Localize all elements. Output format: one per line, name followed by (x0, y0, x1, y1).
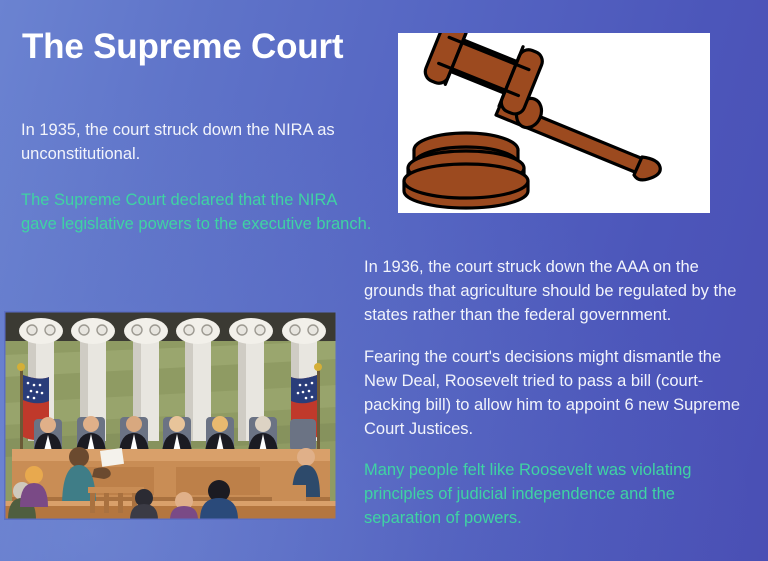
slide-canvas: The Supreme Court In 1935, the court str… (0, 0, 768, 561)
paragraph-court-packing-bill: Fearing the court's decisions might dism… (364, 345, 756, 441)
paragraph-nira-struck-down: In 1935, the court struck down the NIRA … (21, 118, 371, 166)
page-title: The Supreme Court (22, 26, 343, 68)
supreme-court-chamber-icon (4, 311, 337, 520)
paragraph-nira-legislative-powers: The Supreme Court declared that the NIRA… (21, 188, 373, 236)
courtroom-illustration (4, 311, 337, 520)
gavel-icon (398, 33, 710, 213)
paragraph-aaa-struck-down: In 1936, the court struck down the AAA o… (364, 255, 756, 327)
paragraph-judicial-independence: Many people felt like Roosevelt was viol… (364, 458, 756, 530)
gavel-illustration (398, 33, 710, 213)
